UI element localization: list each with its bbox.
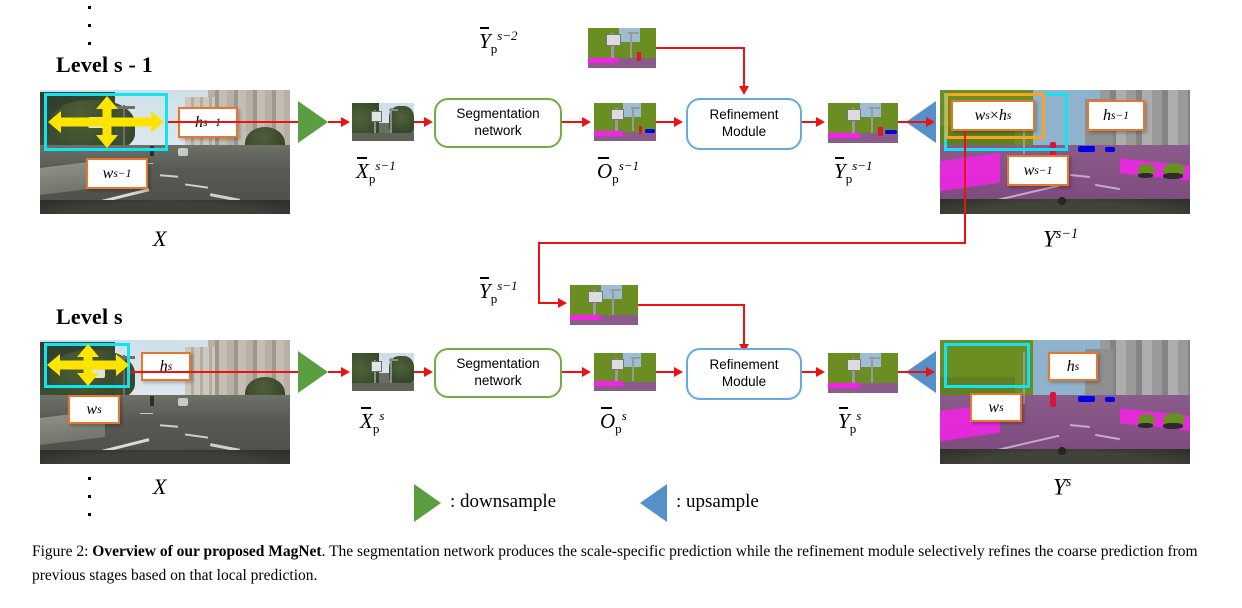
- segnet-label-line2: network: [474, 123, 521, 138]
- prev-pred-var: Y: [479, 279, 491, 303]
- refine-label-line1: Refinement: [709, 357, 778, 372]
- ellipsis-dot: [88, 6, 91, 9]
- legend-downsample-label: : downsample: [450, 491, 556, 513]
- refinement-module-box-s[interactable]: Refinement Module: [686, 348, 802, 400]
- logits-sub: p: [612, 171, 619, 186]
- logits-to-refine-arrowhead-s: [674, 367, 683, 377]
- crop-height-label-level-s: hs: [141, 352, 191, 381]
- crop-width-label-level-s: ws: [68, 395, 120, 424]
- legend-upsample-label: : upsample: [676, 491, 759, 513]
- refined-var: Y: [834, 159, 846, 183]
- downsampled-patch-level-s: [352, 353, 414, 391]
- legend-upsample-icon: [640, 484, 667, 522]
- level-title-s: Level s: [56, 304, 123, 330]
- output-width-label-level-s-minus-1: ws−1: [1007, 155, 1069, 186]
- logits-sup: s: [622, 408, 627, 423]
- refined-to-upsample-line-s: [898, 371, 906, 373]
- out-label-var: Y: [1053, 475, 1066, 500]
- prevpred-to-refine-h-s-minus-1: [656, 47, 745, 49]
- logits-var: O: [600, 409, 615, 433]
- figure-canvas: Level s - 1 hs−1 ws−1 X Xps−1 Segmenta: [0, 0, 1242, 608]
- input-image-caption-level-s: X: [153, 474, 166, 500]
- caption-bold: Overview of our proposed MagNet: [92, 543, 321, 560]
- out-w-var: w: [988, 399, 999, 417]
- out-w-var: w: [1024, 162, 1035, 180]
- logits-sub: p: [615, 421, 622, 436]
- refined-sup: s: [856, 408, 861, 423]
- prev-pred-sub: p: [491, 291, 498, 306]
- upsample-to-output-arrowhead-s-minus-1: [926, 117, 935, 127]
- logits-sup: s−1: [619, 158, 639, 173]
- prev-pred-sub: p: [491, 41, 498, 56]
- ellipsis-top: [88, 6, 91, 45]
- prev-pred-sup: s−2: [497, 28, 517, 43]
- patch-sup: s: [379, 408, 384, 423]
- feedback-h1: [538, 242, 966, 244]
- prev-prediction-patch-level-s: [570, 285, 638, 325]
- segnet-label-line2: network: [474, 373, 521, 388]
- caption-prefix: Figure 2:: [32, 543, 92, 560]
- out-w-sup: s−1: [1034, 165, 1052, 177]
- inner-h: h: [999, 107, 1007, 125]
- input-image-caption-level-s-minus-1: X: [153, 226, 166, 252]
- refine-label-line2: Module: [722, 374, 766, 389]
- feedback-v1: [964, 131, 966, 244]
- prevpred-to-refine-v-s: [743, 304, 745, 346]
- prev-pred-var: Y: [479, 29, 491, 53]
- logits-to-refine-arrowhead-s-minus-1: [674, 117, 683, 127]
- downsample-to-patch-arrowhead-s: [341, 367, 350, 377]
- refine-label-line1: Refinement: [709, 107, 778, 122]
- level-title-s-minus-1: Level s - 1: [56, 52, 153, 78]
- downsample-triangle-s-minus-1: [298, 101, 328, 143]
- refined-var: Y: [838, 409, 850, 433]
- downsample-triangle-s: [298, 351, 328, 393]
- downsampled-patch-level-s-minus-1: [352, 103, 414, 141]
- prev-pred-label-level-s: Yps−1: [479, 278, 518, 307]
- ellipsis-dot: [88, 477, 91, 480]
- logits-patch-level-s: [594, 353, 656, 391]
- height-measure-arrow-level-s-minus-1: [96, 96, 118, 148]
- segnet-label-line1: Segmentation: [456, 106, 539, 121]
- figure-caption: Figure 2: Overview of our proposed MagNe…: [32, 540, 1210, 588]
- refined-patch-label-level-s: Yps: [838, 408, 861, 437]
- refined-patch-label-level-s-minus-1: Yps−1: [834, 158, 873, 187]
- segnet-label-line1: Segmentation: [456, 356, 539, 371]
- output-image-caption-level-s-minus-1: Ys−1: [1043, 226, 1078, 253]
- crop-width-sup: s−1: [113, 168, 131, 180]
- feedback-arrowhead: [558, 298, 567, 308]
- refined-sub: p: [846, 171, 853, 186]
- patch-sup: s−1: [375, 158, 395, 173]
- output-image-caption-level-s: Ys: [1053, 474, 1071, 501]
- refine-to-refined-arrowhead-s-minus-1: [816, 117, 825, 127]
- out-label-sup: s: [1066, 474, 1072, 490]
- crop-to-downsample-line-s-minus-1: [168, 121, 298, 123]
- inner-times: ×: [990, 107, 999, 125]
- output-inner-crop-label-level-s-minus-1: ws×hs: [951, 100, 1035, 131]
- patch-sub: p: [373, 421, 380, 436]
- logits-var: O: [597, 159, 612, 183]
- refined-patch-level-s-minus-1: [828, 103, 898, 143]
- segnet-to-logits-arrowhead-s-minus-1: [582, 117, 591, 127]
- out-h-sup: s−1: [1111, 110, 1129, 122]
- prev-pred-label-level-s-minus-1: Yps−2: [479, 28, 518, 57]
- feedback-v2: [538, 242, 540, 304]
- ellipsis-dot: [88, 24, 91, 27]
- patch-var: X: [356, 159, 369, 183]
- refine-label-line2: Module: [722, 124, 766, 139]
- crop-to-downsample-line-s: [130, 371, 298, 373]
- output-height-label-level-s-minus-1: hs−1: [1087, 100, 1145, 131]
- crop-width-var: w: [86, 401, 97, 419]
- logits-patch-label-level-s-minus-1: Ops−1: [597, 158, 639, 187]
- downsampled-patch-label-level-s-minus-1: Xps−1: [356, 158, 396, 187]
- patch-to-segnet-arrowhead-s: [424, 367, 433, 377]
- downsample-to-patch-arrowhead-s-minus-1: [341, 117, 350, 127]
- out-label-var: Y: [1043, 227, 1056, 252]
- inner-h-sup: s: [1007, 110, 1011, 122]
- prevpred-to-refine-v-s-minus-1: [743, 47, 745, 88]
- ellipsis-dot: [88, 495, 91, 498]
- prev-prediction-patch-level-s-minus-1: [588, 28, 656, 68]
- upsample-to-output-arrowhead-s: [926, 367, 935, 377]
- prevpred-to-refine-h-s: [638, 304, 745, 306]
- ellipsis-bottom: [88, 477, 91, 516]
- refined-patch-level-s: [828, 353, 898, 393]
- output-height-label-level-s: hs: [1048, 352, 1098, 381]
- refined-sub: p: [850, 421, 857, 436]
- segmentation-network-box-s-minus-1[interactable]: Segmentation network: [434, 98, 562, 148]
- out-h-sup: s: [1075, 361, 1079, 373]
- segmentation-network-box-s[interactable]: Segmentation network: [434, 348, 562, 398]
- refine-to-refined-arrowhead-s: [816, 367, 825, 377]
- out-h-var: h: [1067, 358, 1075, 376]
- out-label-sup: s−1: [1056, 226, 1078, 242]
- inner-w: w: [975, 107, 986, 125]
- output-width-label-level-s: ws: [970, 393, 1022, 422]
- legend-downsample-icon: [414, 484, 441, 522]
- segnet-to-logits-arrowhead-s: [582, 367, 591, 377]
- ellipsis-dot: [88, 513, 91, 516]
- crop-width-label-level-s-minus-1: ws−1: [86, 158, 148, 189]
- logits-patch-label-level-s: Ops: [600, 408, 627, 437]
- logits-patch-level-s-minus-1: [594, 103, 656, 141]
- refined-to-upsample-line-s-minus-1: [898, 121, 906, 123]
- crop-width-var: w: [103, 165, 114, 183]
- ellipsis-dot: [88, 42, 91, 45]
- height-measure-arrow-level-s: [77, 344, 99, 386]
- prevpred-to-refine-arrowhead-s-minus-1: [739, 86, 749, 95]
- refinement-module-box-s-minus-1[interactable]: Refinement Module: [686, 98, 802, 150]
- downsampled-patch-label-level-s: Xps: [360, 408, 384, 437]
- patch-sub: p: [369, 171, 376, 186]
- patch-var: X: [360, 409, 373, 433]
- out-w-sup: s: [999, 402, 1003, 414]
- refined-sup: s−1: [852, 158, 872, 173]
- prev-pred-sup: s−1: [497, 278, 517, 293]
- patch-to-segnet-arrowhead-s-minus-1: [424, 117, 433, 127]
- out-h-var: h: [1103, 107, 1111, 125]
- crop-width-sup: s: [97, 404, 101, 416]
- output-crop-cyan-level-s: [944, 343, 1030, 388]
